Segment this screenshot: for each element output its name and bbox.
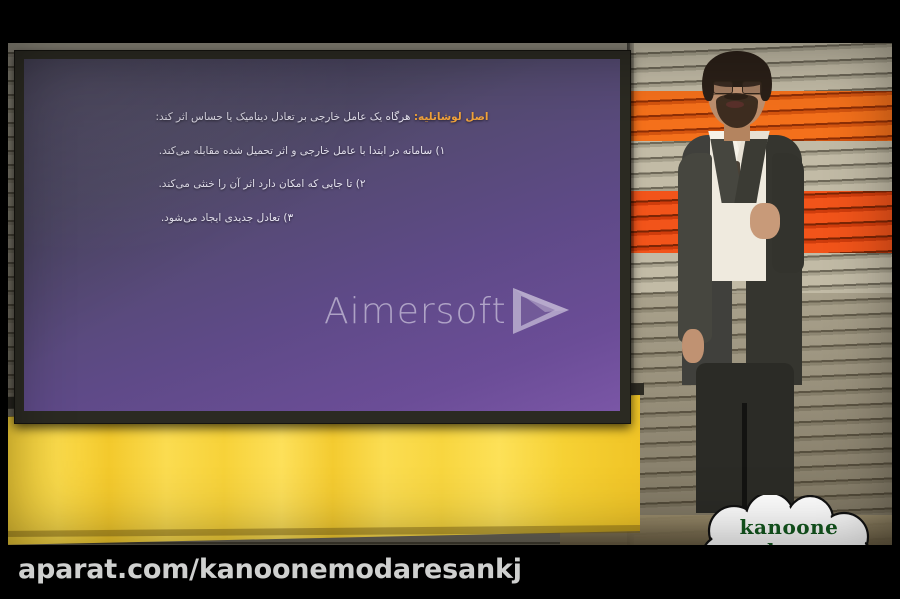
letterbox-top xyxy=(0,0,900,43)
presenter-hand-lowered xyxy=(682,329,704,363)
presenter-hand-raised xyxy=(750,203,780,239)
presenter-mouth xyxy=(726,101,744,108)
video-frame: اصل لوشاتلیه: هرگاه یک عامل خارجی بر تعا… xyxy=(0,0,900,599)
channel-logo-text: kanoone modaresan xyxy=(694,515,884,545)
letterbox-right xyxy=(892,0,900,548)
letterbox-left xyxy=(0,0,8,548)
presenter-arm-left xyxy=(678,153,712,343)
channel-logo-line1: kanoone xyxy=(694,515,884,539)
screen-shading xyxy=(24,59,620,411)
presenter-lens-left xyxy=(713,81,733,94)
presenter-lens-right xyxy=(742,81,762,94)
video-content-area: اصل لوشاتلیه: هرگاه یک عامل خارجی بر تعا… xyxy=(0,43,900,545)
caption-bar: aparat.com/kanoonemodaresankj xyxy=(0,548,900,599)
channel-logo-line2: modaresan xyxy=(694,539,884,545)
channel-logo-bubble: kanoone modaresan xyxy=(694,495,884,545)
caption-url-text: aparat.com/kanoonemodaresankj xyxy=(18,554,522,585)
presenter-figure xyxy=(668,43,818,513)
projection-screen-frame: اصل لوشاتلیه: هرگاه یک عامل خارجی بر تعا… xyxy=(14,50,631,424)
projection-screen: اصل لوشاتلیه: هرگاه یک عامل خارجی بر تعا… xyxy=(24,59,620,411)
